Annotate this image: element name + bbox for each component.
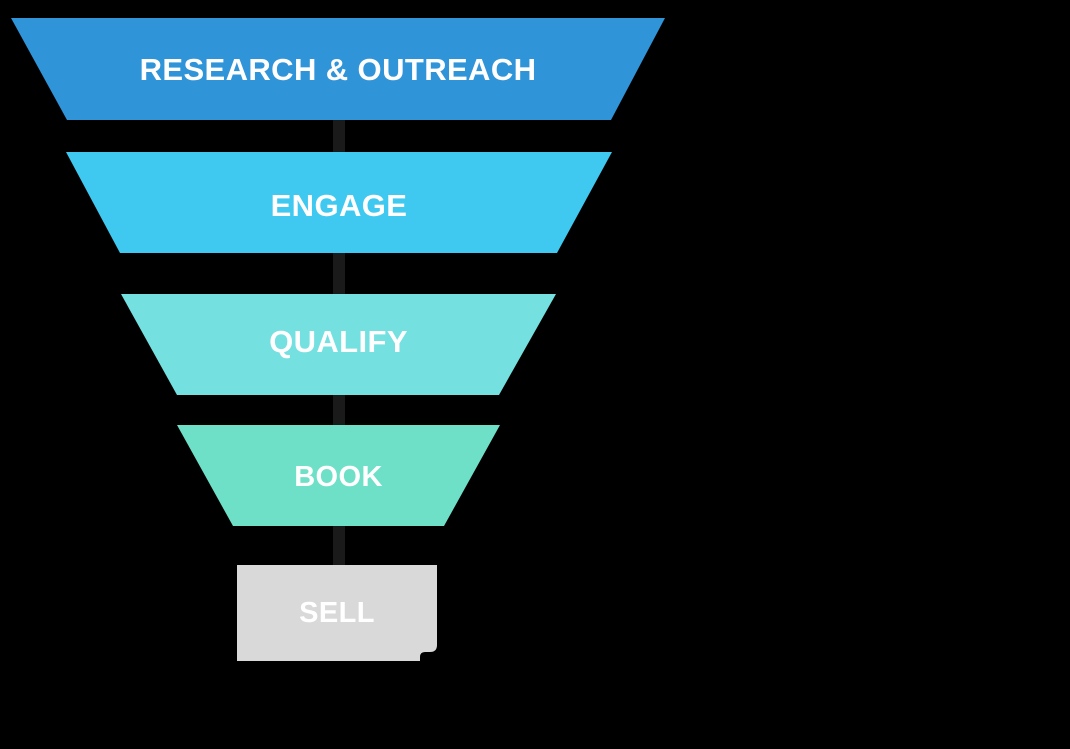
funnel-label-engage: ENGAGE [0,188,678,224]
funnel-diagram: RESEARCH & OUTREACH ENGAGE QUALIFY BOOK … [0,0,1070,749]
connector-engage-qualify [333,251,345,296]
connector-book-sell [333,524,345,567]
connector-research-engage [333,118,345,154]
funnel-label-book: BOOK [0,461,677,494]
funnel-label-research-outreach: RESEARCH & OUTREACH [0,52,676,88]
funnel-label-qualify: QUALIFY [0,324,677,360]
connector-qualify-book [333,393,345,427]
funnel-shapes [0,0,1070,749]
funnel-label-sell: SELL [0,597,674,630]
